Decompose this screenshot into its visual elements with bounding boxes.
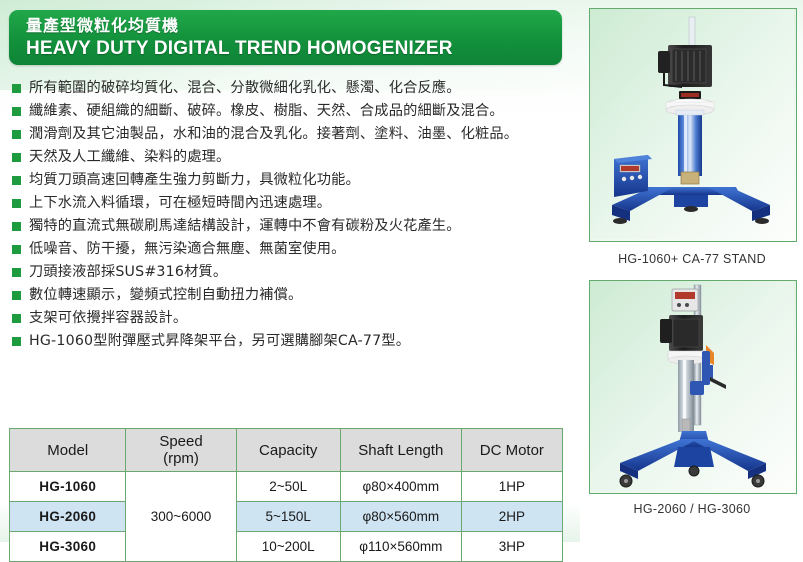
- feature-text: 支架可依攪拌容器設計。: [29, 308, 187, 329]
- cell-model: HG-1060: [10, 472, 126, 502]
- header-banner: 量產型微粒化均質機 HEAVY DUTY DIGITAL TREND HOMOG…: [9, 10, 562, 65]
- cell-speed-merged: 300~6000: [126, 472, 236, 562]
- product-photo-top: [589, 8, 797, 242]
- feature-list: 所有範圍的破碎均質化、混合、分散微細化乳化、懸濁、化合反應。 纖維素、硬組織的細…: [12, 78, 572, 354]
- list-item: 數位轉速顯示，變頻式控制自動扭力補償。: [12, 285, 572, 306]
- list-item: 刀頭接液部採SUS#316材質。: [12, 262, 572, 283]
- square-bullet-icon: [12, 245, 21, 254]
- list-item: 支架可依攪拌容器設計。: [12, 308, 572, 329]
- product-photo-bottom: [589, 280, 797, 494]
- cell-dc-motor: 2HP: [461, 502, 562, 532]
- cell-model: HG-2060: [10, 502, 126, 532]
- cell-capacity: 2~50L: [236, 472, 340, 502]
- table-row: HG-3060 10~200L φ110×560mm 3HP: [10, 532, 563, 562]
- square-bullet-icon: [12, 199, 21, 208]
- square-bullet-icon: [12, 314, 21, 323]
- feature-text: 數位轉速顯示，變頻式控制自動扭力補償。: [29, 285, 302, 306]
- feature-text: 所有範圍的破碎均質化、混合、分散微細化乳化、懸濁、化合反應。: [29, 78, 461, 99]
- feature-text: 低噪音、防干擾，無污染適合無塵、無菌室使用。: [29, 239, 346, 260]
- square-bullet-icon: [12, 130, 21, 139]
- list-item: 纖維素、硬組織的細斷、破碎。橡皮、樹脂、天然、合成品的細斷及混合。: [12, 101, 572, 122]
- cell-shaft-length: φ80×400mm: [340, 472, 461, 502]
- list-item: 低噪音、防干擾，無污染適合無塵、無菌室使用。: [12, 239, 572, 260]
- square-bullet-icon: [12, 176, 21, 185]
- cell-shaft-length: φ80×560mm: [340, 502, 461, 532]
- homogenizer-benchtop-illustration: [590, 9, 794, 239]
- square-bullet-icon: [12, 84, 21, 93]
- cell-capacity: 5~150L: [236, 502, 340, 532]
- table-row: HG-2060 5~150L φ80×560mm 2HP: [10, 502, 563, 532]
- cell-model: HG-3060: [10, 532, 126, 562]
- title-chinese: 量產型微粒化均質機: [26, 15, 562, 36]
- photo-caption-bottom: HG-2060 / HG-3060: [589, 502, 795, 516]
- feature-text: 纖維素、硬組織的細斷、破碎。橡皮、樹脂、天然、合成品的細斷及混合。: [29, 101, 504, 122]
- cell-capacity: 10~200L: [236, 532, 340, 562]
- column-header-model: Model: [10, 429, 126, 472]
- cell-shaft-length: φ110×560mm: [340, 532, 461, 562]
- square-bullet-icon: [12, 153, 21, 162]
- list-item: 潤滑劑及其它油製品，水和油的混合及乳化。接著劑、塗料、油墨、化粧品。: [12, 124, 572, 145]
- feature-text: 均質刀頭高速回轉產生強力剪斷力，具微粒化功能。: [29, 170, 360, 191]
- square-bullet-icon: [12, 268, 21, 277]
- column-header-speed: Speed (rpm): [126, 429, 236, 472]
- title-english: HEAVY DUTY DIGITAL TREND HOMOGENIZER: [26, 37, 562, 61]
- column-header-shaft-length: Shaft Length: [340, 429, 461, 472]
- feature-text: 天然及人工纖維、染料的處理。: [29, 147, 230, 168]
- feature-text: 刀頭接液部採SUS#316材質。: [29, 262, 227, 283]
- cell-dc-motor: 1HP: [461, 472, 562, 502]
- feature-text: HG-1060型附彈壓式昇降架平台，另可選購腳架CA-77型。: [29, 331, 410, 352]
- cell-dc-motor: 3HP: [461, 532, 562, 562]
- table-row: HG-1060 300~6000 2~50L φ80×400mm 1HP: [10, 472, 563, 502]
- square-bullet-icon: [12, 222, 21, 231]
- list-item: 均質刀頭高速回轉產生強力剪斷力，具微粒化功能。: [12, 170, 572, 191]
- list-item: HG-1060型附彈壓式昇降架平台，另可選購腳架CA-77型。: [12, 331, 572, 352]
- list-item: 上下水流入料循環，可在極短時間內迅速處理。: [12, 193, 572, 214]
- feature-text: 獨特的直流式無碳刷馬達結構設計，運轉中不會有碳粉及火花產生。: [29, 216, 461, 237]
- square-bullet-icon: [12, 337, 21, 346]
- square-bullet-icon: [12, 107, 21, 116]
- feature-text: 上下水流入料循環，可在極短時間內迅速處理。: [29, 193, 331, 214]
- table-header-row: Model Speed (rpm) Capacity Shaft Length …: [10, 429, 563, 472]
- catalog-page: 量產型微粒化均質機 HEAVY DUTY DIGITAL TREND HOMOG…: [0, 0, 803, 542]
- list-item: 天然及人工纖維、染料的處理。: [12, 147, 572, 168]
- square-bullet-icon: [12, 291, 21, 300]
- homogenizer-floorstand-illustration: [590, 281, 794, 491]
- column-header-dc-motor: DC Motor: [461, 429, 562, 472]
- speed-label-line2: (rpm): [127, 450, 234, 467]
- photo-caption-top: HG-1060+ CA-77 STAND: [589, 252, 795, 266]
- feature-text: 潤滑劑及其它油製品，水和油的混合及乳化。接著劑、塗料、油墨、化粧品。: [29, 124, 518, 145]
- column-header-capacity: Capacity: [236, 429, 340, 472]
- list-item: 所有範圍的破碎均質化、混合、分散微細化乳化、懸濁、化合反應。: [12, 78, 572, 99]
- speed-label-line1: Speed: [127, 433, 234, 450]
- product-photo-column: HG-1060+ CA-77 STAND: [585, 0, 803, 542]
- list-item: 獨特的直流式無碳刷馬達結構設計，運轉中不會有碳粉及火花產生。: [12, 216, 572, 237]
- left-content-column: 量產型微粒化均質機 HEAVY DUTY DIGITAL TREND HOMOG…: [0, 0, 580, 542]
